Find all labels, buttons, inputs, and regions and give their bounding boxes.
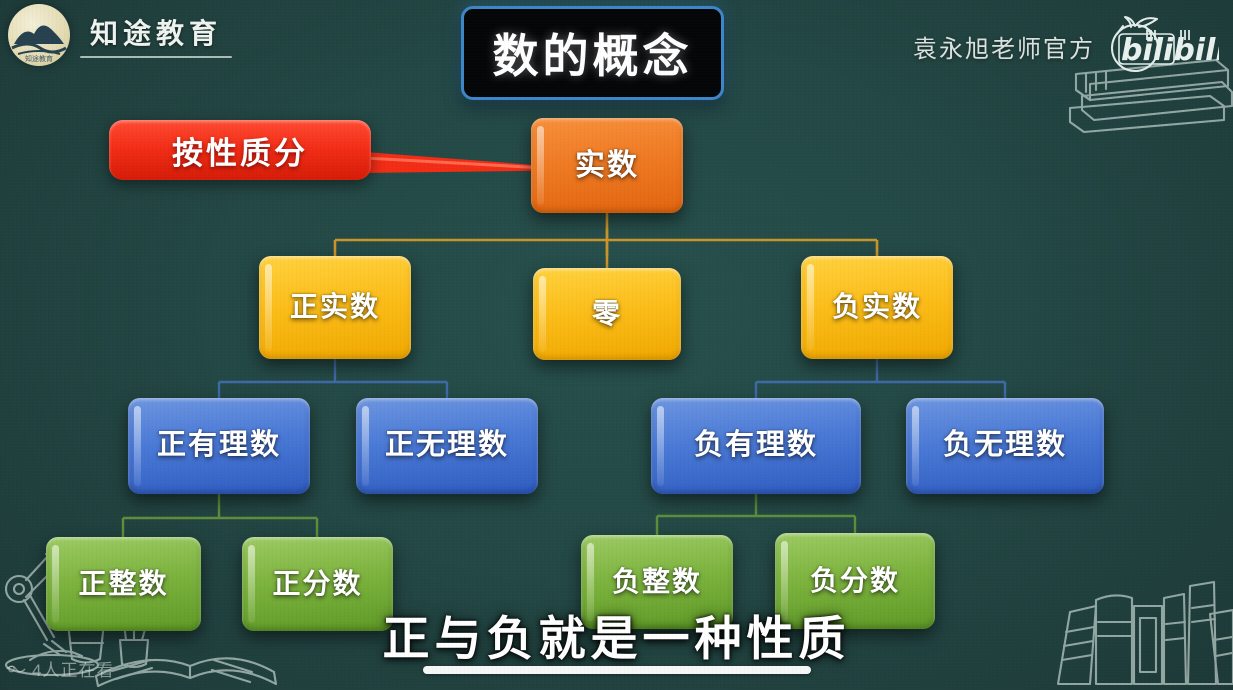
eye-icon	[6, 662, 26, 676]
channel-name: 袁永旭老师官方	[913, 29, 1095, 64]
brand-logo: 知途教育 知途教育	[8, 4, 232, 66]
wire-level1-level2	[335, 213, 877, 268]
subtitle-caption: 正与负就是一种性质	[0, 600, 1233, 669]
node-label: 负实数	[832, 292, 922, 323]
node-label: 正无理数	[385, 430, 509, 462]
node-label: 负分数	[810, 566, 900, 597]
wire-level2-level3	[219, 359, 1005, 398]
node-label: 实数	[575, 149, 639, 182]
channel-watermark: 袁永旭老师官方 bilibili	[913, 16, 1219, 76]
svg-text:bilibili: bilibili	[1121, 33, 1219, 68]
node-zero[interactable]: 零	[533, 268, 681, 360]
node-real[interactable]: 实数	[531, 118, 683, 213]
node-label: 正实数	[290, 292, 380, 323]
mountain-seal-icon: 知途教育	[8, 4, 70, 66]
node-label: 正分数	[272, 569, 362, 600]
viewer-count: 4人正在看	[6, 656, 114, 681]
node-positive-rational[interactable]: 正有理数	[128, 398, 310, 494]
svg-text:知途教育: 知途教育	[25, 54, 53, 63]
callout-label: 按性质分	[172, 128, 308, 173]
node-label: 正整数	[78, 569, 168, 600]
brand-underline	[80, 56, 232, 58]
page-title: 数的概念	[461, 6, 724, 100]
node-label: 负整数	[612, 567, 702, 598]
node-negative-irrational[interactable]: 负无理数	[906, 398, 1104, 494]
video-player-frame: 知途教育 知途教育 数的概念 袁永旭老师官方 bilibili	[0, 0, 1233, 690]
node-negative-real[interactable]: 负实数	[801, 256, 953, 359]
node-label: 负有理数	[694, 430, 818, 462]
node-negative-rational[interactable]: 负有理数	[651, 398, 861, 494]
brand-name: 知途教育	[90, 12, 222, 52]
wire-level3-level4	[123, 494, 855, 537]
callout-by-property: 按性质分	[109, 120, 371, 180]
home-indicator-bar[interactable]	[423, 666, 811, 674]
node-label: 正有理数	[157, 430, 281, 462]
node-label: 负无理数	[943, 430, 1067, 462]
node-positive-irrational[interactable]: 正无理数	[356, 398, 538, 494]
node-positive-real[interactable]: 正实数	[259, 256, 411, 359]
viewer-count-label: 4人正在看	[32, 656, 114, 681]
page-title-text: 数的概念	[493, 20, 693, 86]
bilibili-chalk-logo-icon: bilibili	[1095, 16, 1219, 76]
node-label: 零	[592, 299, 622, 330]
